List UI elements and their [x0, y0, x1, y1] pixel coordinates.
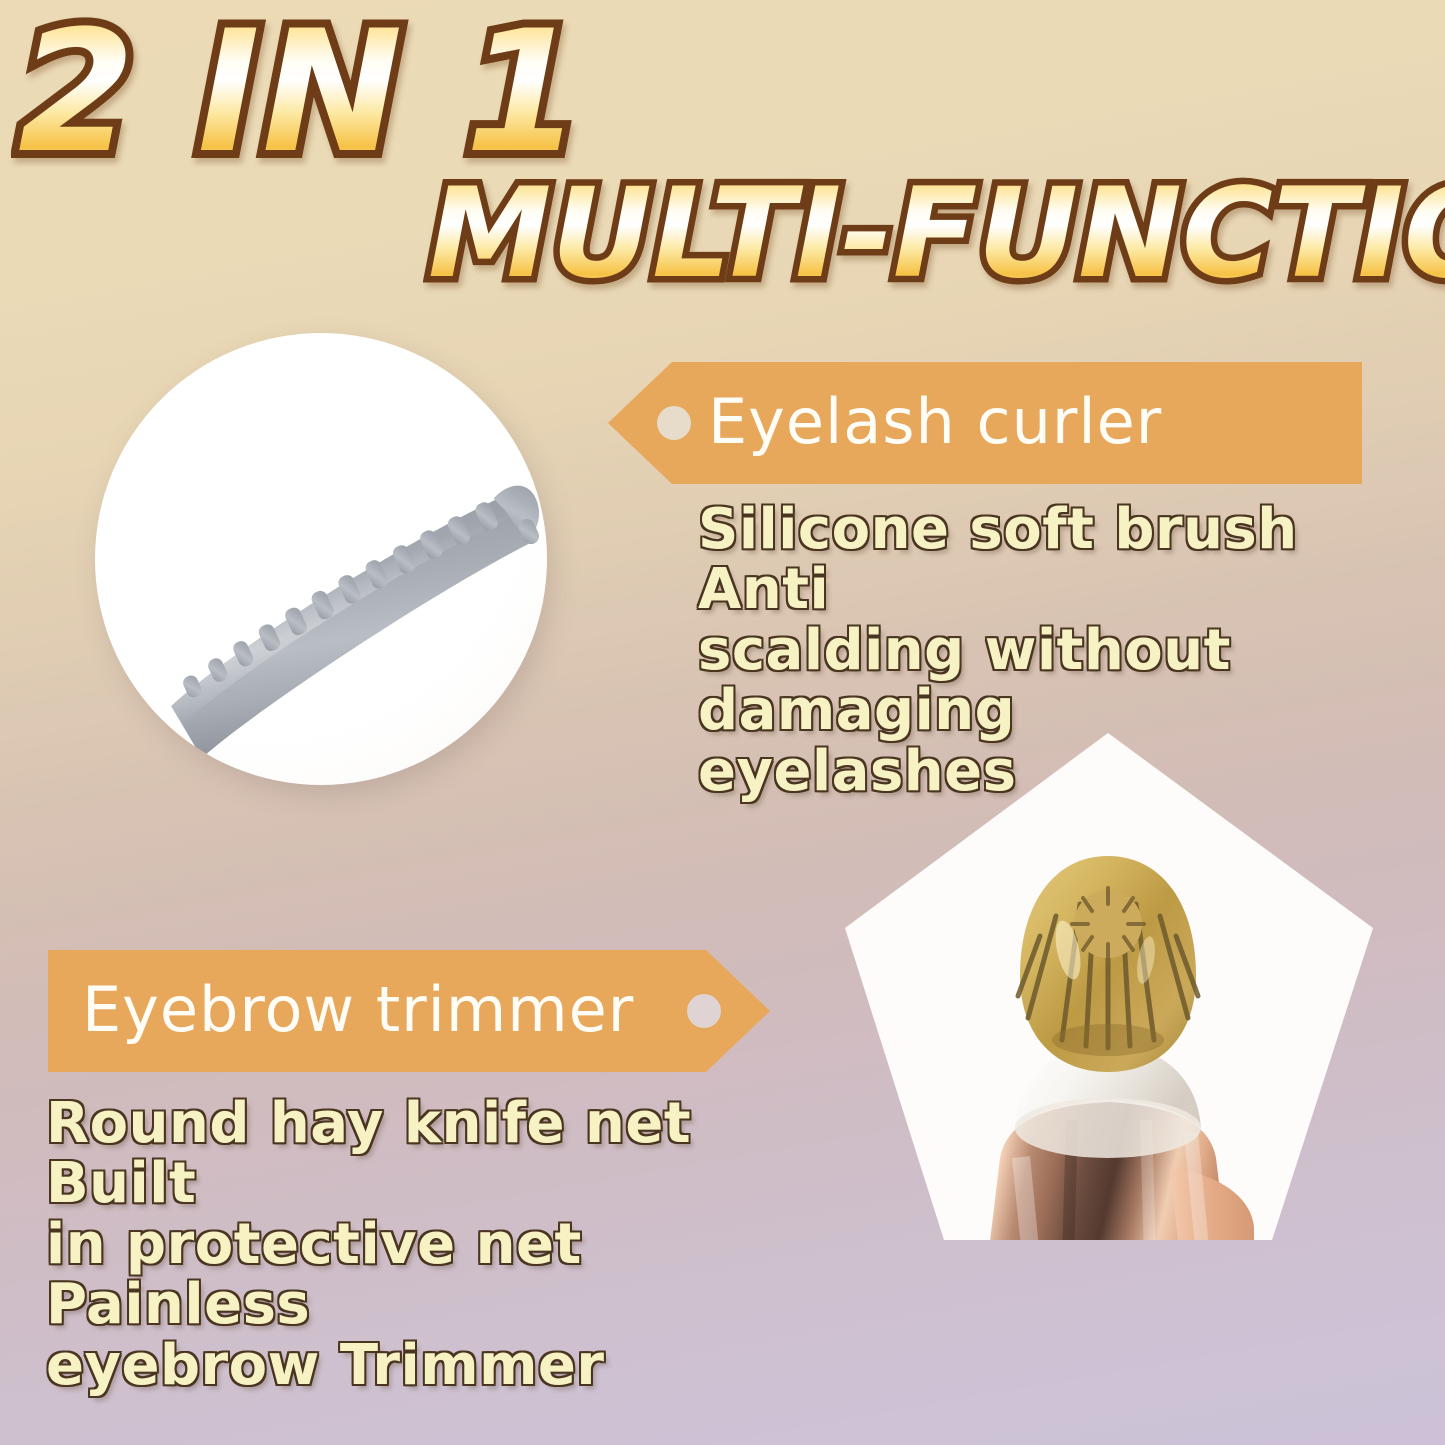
comb-body — [150, 495, 547, 760]
comb-neck — [160, 749, 238, 785]
eyebrow-trimmer-banner-label: Eyebrow trimmer — [82, 973, 634, 1046]
banner-bullet-dot — [687, 994, 721, 1028]
eyelash-curler-banner[interactable]: Eyelash curler — [606, 362, 1366, 484]
silicone-comb-brush-icon — [95, 333, 547, 785]
description-line: in protective net Painless — [46, 1215, 786, 1336]
eyebrow-trimmer-banner[interactable]: Eyebrow trimmer — [46, 950, 774, 1072]
description-line: scalding without damaging — [698, 621, 1428, 742]
headline-line-2in1: 2 IN 1 2 IN 1 — [18, 8, 584, 176]
collar-rim — [1015, 1098, 1201, 1158]
headline-line-2in1-stroke: 2 IN 1 — [18, 8, 584, 176]
headline-line-multifunction: MULTI-FUNCTION MULTI-FUNCTION — [428, 172, 1445, 296]
headline-line-multifunction-stroke: MULTI-FUNCTION — [428, 172, 1445, 296]
eyebrow-trimmer-product-photo — [840, 728, 1380, 1258]
headline-line-2in1-fill: 2 IN 1 — [18, 0, 584, 190]
eyebrow-trimmer-description: Round hay knife net Built in protective … — [46, 1094, 786, 1396]
description-line: Round hay knife net Built — [46, 1094, 786, 1215]
product-feature-poster: 2 IN 1 2 IN 1 MULTI-FUNCTION MULTI-FUNCT… — [0, 0, 1445, 1445]
eyelash-curler-banner-label: Eyelash curler — [708, 385, 1162, 458]
description-line: Silicone soft brush Anti — [698, 500, 1428, 621]
description-line: eyebrow Trimmer — [46, 1336, 786, 1396]
gold-trimmer-head-icon — [840, 728, 1380, 1258]
banner-bullet-dot — [657, 406, 691, 440]
headline-block: 2 IN 1 2 IN 1 MULTI-FUNCTION MULTI-FUNCT… — [0, 0, 1445, 300]
headline-line-multifunction-fill: MULTI-FUNCTION — [428, 162, 1445, 306]
eyelash-curler-product-photo — [95, 333, 547, 785]
